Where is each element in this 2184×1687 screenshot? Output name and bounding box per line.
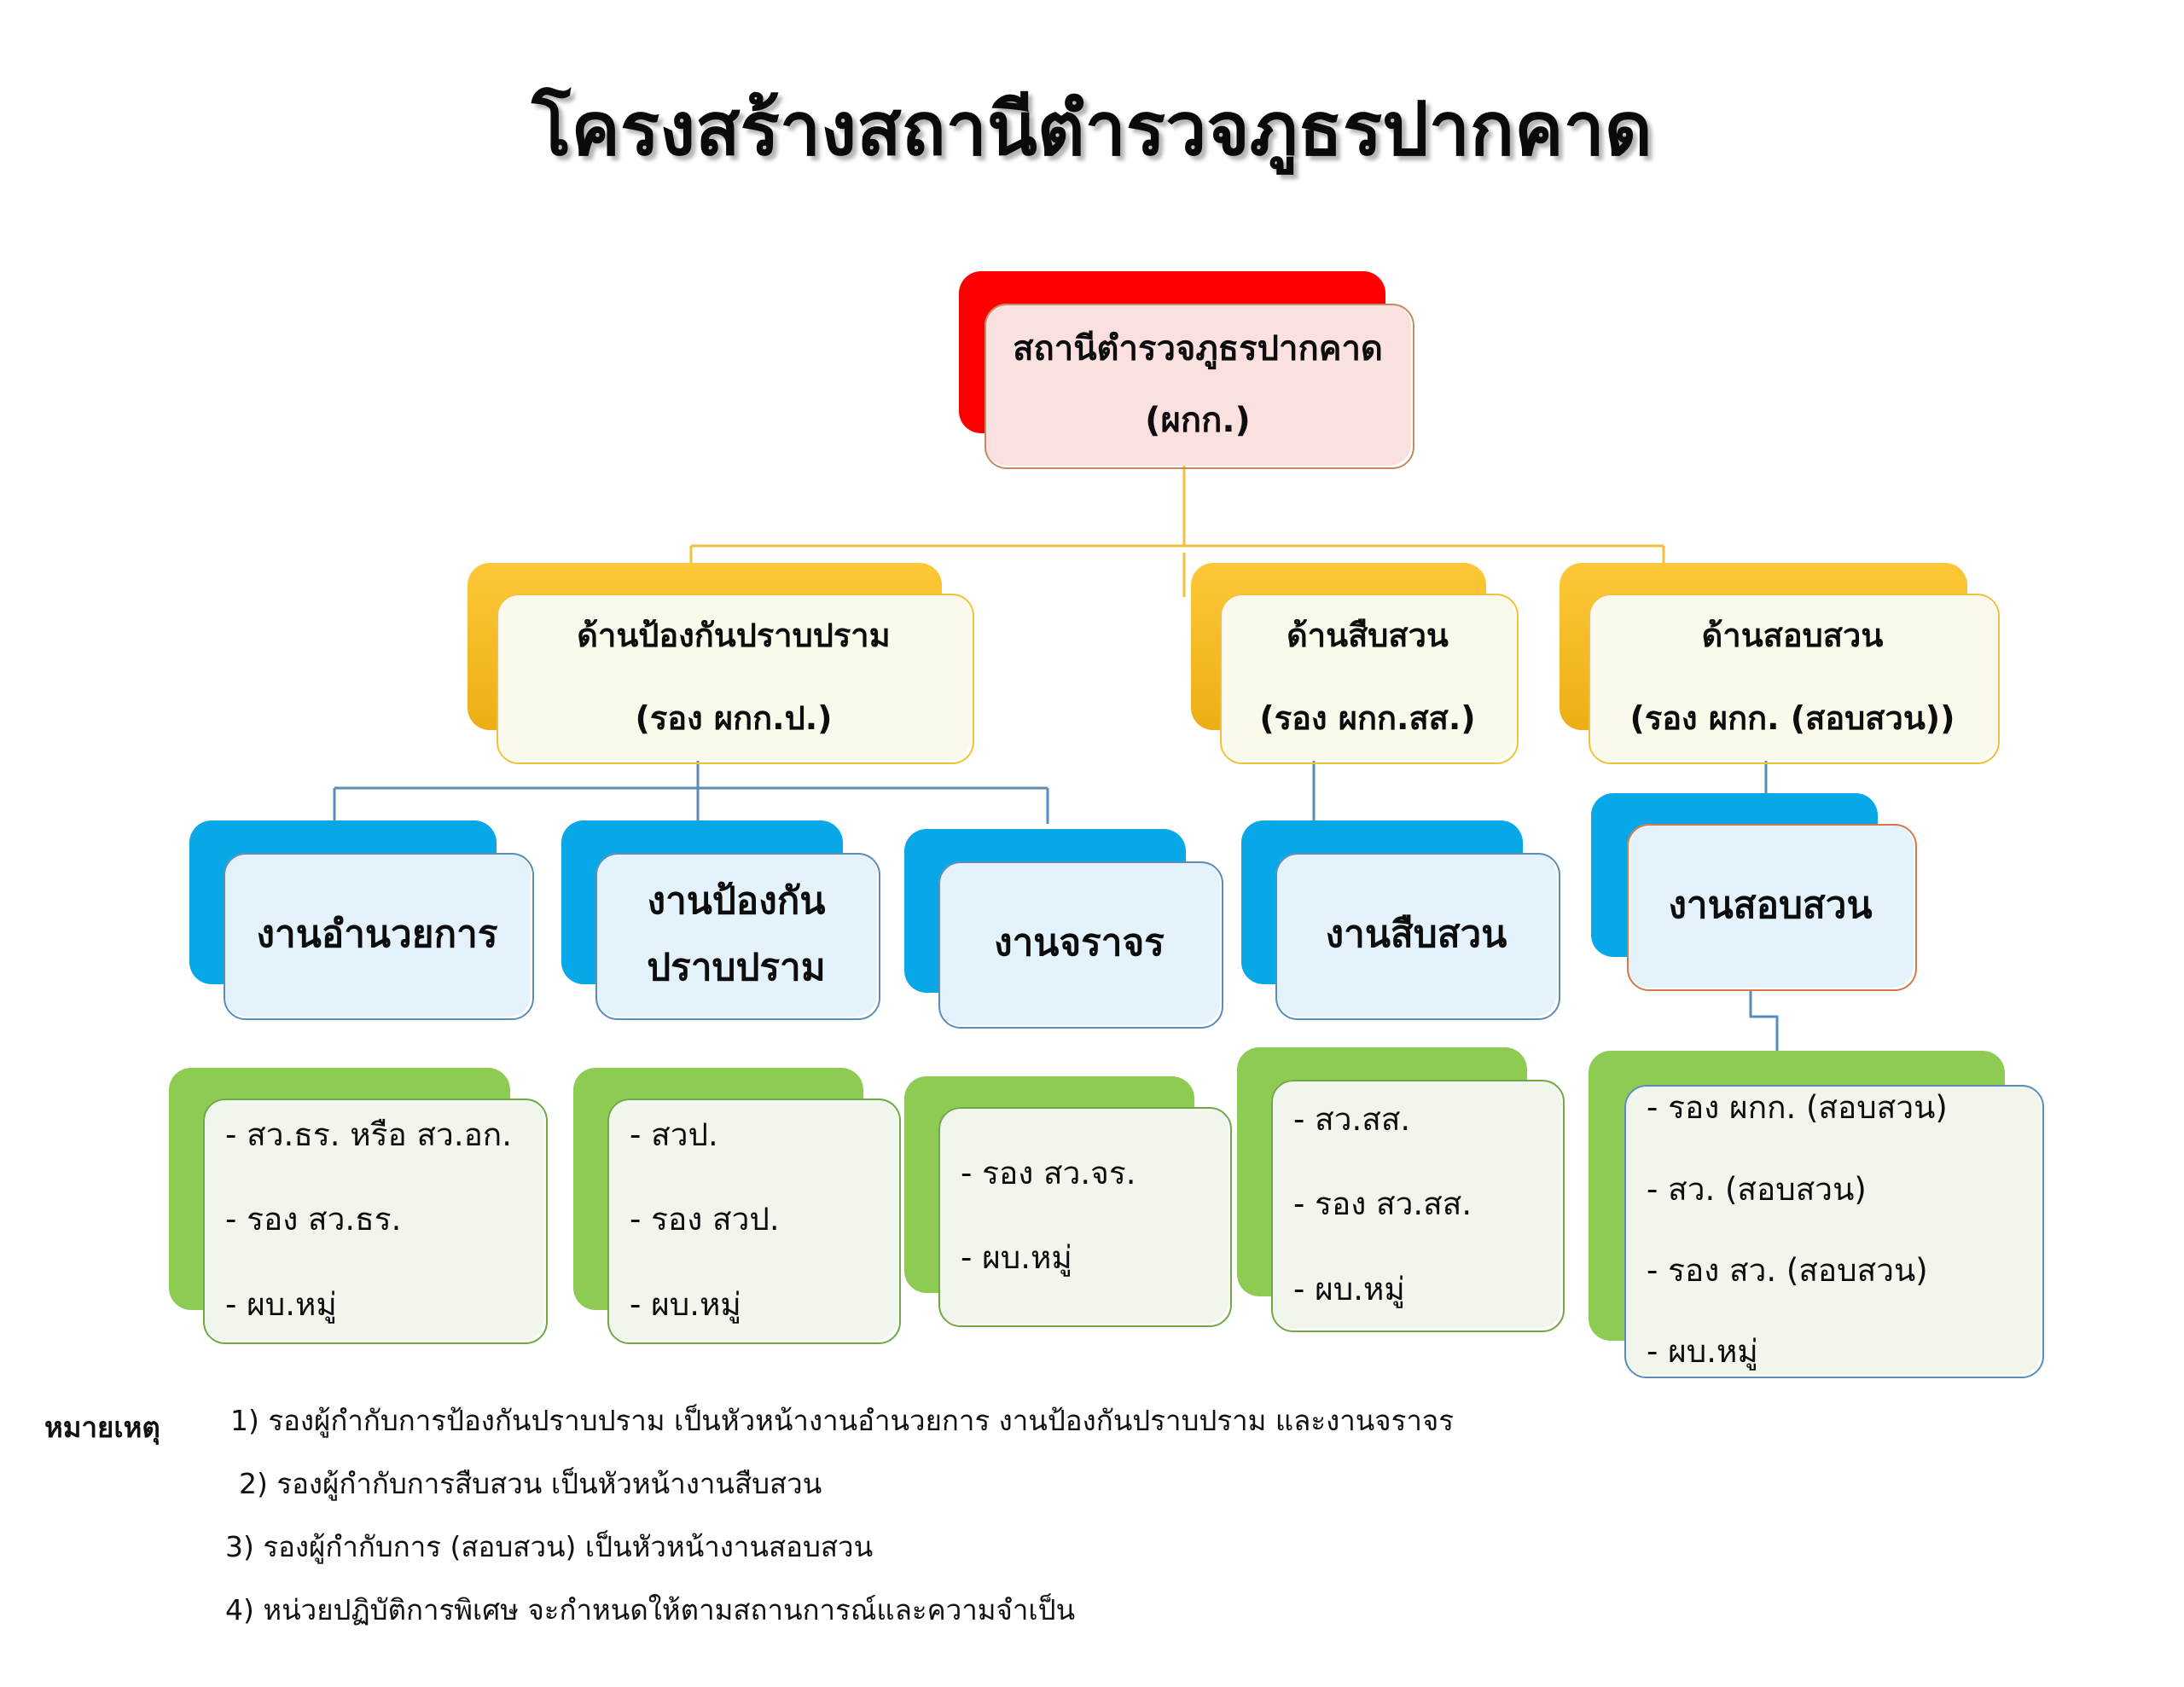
note-item-3: 3) รองผู้กำกับการ (สอบสวน) เป็นหัวหน้างา… [225,1533,873,1561]
staff-inquiry[interactable]: - รอง ผกก. (สอบสวน) - สว. (สอบสวน) - รอง… [1589,1051,2041,1375]
root-node-label: สถานีตำรวจภูธรปากคาด (ผกก.) [985,304,1411,466]
list-item: - สว.สส. [1293,1095,1410,1144]
connector-inquiry-unit-to-staff [1751,989,1777,1058]
list-item: - ผบ.หมู่ [630,1280,741,1329]
unit-prevention-line-2: ปราบปราม [647,939,825,997]
division-inquiry[interactable]: ด้านสอบสวน (รอง ผกก. (สอบสวน)) [1560,563,1996,761]
list-item: - สว. (สอบสวน) [1647,1165,1867,1214]
division-investigation-label: ด้านสืบสวน (รอง ผกก.สส.) [1220,594,1515,761]
division-inquiry-line-2: (รอง ผกก. (สอบสวน)) [1629,693,1955,744]
notes-label: หมายเหตุ [44,1405,160,1450]
unit-inquiry[interactable]: งานสอบสวน [1591,793,1914,989]
unit-traffic-label: งานจราจร [938,861,1220,1025]
unit-prevention-label: งานป้องกัน ปราบปราม [595,853,877,1017]
division-prevention-line-1: ด้านป้องกันปราบปราม [577,611,890,661]
staff-administration-list: - สว.ธร. หรือ สว.อก. - รอง สว.ธร. - ผบ.ห… [225,1099,544,1341]
division-prevention-line-2: (รอง ผกก.ป.) [635,693,832,744]
list-item: - รอง สวป. [630,1195,780,1244]
unit-administration[interactable]: งานอำนวยการ [189,820,531,1017]
staff-investigation-list: - สว.สส. - รอง สว.สส. - ผบ.หมู่ [1293,1080,1561,1329]
staff-inquiry-list: - รอง ผกก. (สอบสวน) - สว. (สอบสวน) - รอง… [1647,1085,2041,1375]
staff-investigation[interactable]: - สว.สส. - รอง สว.สส. - ผบ.หมู่ [1237,1047,1561,1329]
division-prevention-label: ด้านป้องกันปราบปราม (รอง ผกก.ป.) [497,594,971,761]
note-item-2: 2) รองผู้กำกับการสืบสวน เป็นหัวหน้างานสื… [239,1470,822,1498]
division-investigation-line-2: (รอง ผกก.สส.) [1259,693,1475,744]
staff-prevention-list: - สวป. - รอง สวป. - ผบ.หมู่ [630,1099,897,1341]
division-prevention[interactable]: ด้านป้องกันปราบปราม (รอง ผกก.ป.) [468,563,971,761]
list-item: - ผบ.หมู่ [1647,1327,1758,1376]
list-item: - รอง ผกก. (สอบสวน) [1647,1083,1948,1132]
note-item-4: 4) หน่วยปฏิบัติการพิเศษ จะกำหนดให้ตามสถา… [225,1596,1075,1624]
division-inquiry-label: ด้านสอบสวน (รอง ผกก. (สอบสวน)) [1589,594,1996,761]
list-item: - รอง สว.สส. [1293,1180,1472,1228]
staff-prevention[interactable]: - สวป. - รอง สวป. - ผบ.หมู่ [573,1068,897,1341]
division-inquiry-line-1: ด้านสอบสวน [1702,611,1884,661]
note-item-1: 1) รองผู้กำกับการป้องกันปราบปราม เป็นหัว… [230,1406,1454,1435]
unit-prevention-line-1: งานป้องกัน [648,872,826,930]
list-item: - ผบ.หมู่ [225,1280,337,1329]
list-item: - สวป. [630,1110,718,1159]
unit-administration-label: งานอำนวยการ [224,853,531,1017]
unit-inquiry-label: งานสอบสวน [1627,824,1914,988]
unit-investigation[interactable]: งานสืบสวน [1241,820,1557,1017]
list-item: - รอง สว. (สอบสวน) [1647,1246,1928,1295]
org-chart-page: โครงสร้างสถานีตำรวจภูธรปากคาด [0,0,2184,1687]
page-title: โครงสร้างสถานีตำรวจภูธรปากคาด [0,70,2184,187]
list-item: - ผบ.หมู่ [1293,1265,1405,1313]
staff-traffic-list: - รอง สว.จร. - ผบ.หมู่ [961,1107,1228,1324]
unit-investigation-label: งานสืบสวน [1275,853,1557,1017]
unit-investigation-line-1: งานสืบสวน [1326,906,1507,964]
root-node-line-2: (ผกก.) [1145,394,1251,447]
staff-administration[interactable]: - สว.ธร. หรือ สว.อก. - รอง สว.ธร. - ผบ.ห… [169,1068,544,1341]
root-node-line-1: สถานีตำรวจภูธรปากคาด [1013,322,1383,375]
list-item: - ผบ.หมู่ [961,1233,1072,1282]
list-item: - รอง สว.ธร. [225,1195,401,1244]
unit-traffic[interactable]: งานจราจร [904,829,1220,1025]
staff-traffic[interactable]: - รอง สว.จร. - ผบ.หมู่ [904,1076,1228,1324]
connector-prevention-to-units [334,757,1048,824]
unit-traffic-line-1: งานจราจร [994,914,1165,972]
root-node[interactable]: สถานีตำรวจภูธรปากคาด (ผกก.) [959,271,1411,466]
unit-inquiry-line-1: งานสอบสวน [1668,877,1872,935]
unit-prevention[interactable]: งานป้องกัน ปราบปราม [561,820,877,1017]
division-investigation-line-1: ด้านสืบสวน [1287,611,1449,661]
division-investigation[interactable]: ด้านสืบสวน (รอง ผกก.สส.) [1191,563,1515,761]
list-item: - รอง สว.จร. [961,1149,1136,1197]
list-item: - สว.ธร. หรือ สว.อก. [225,1110,512,1159]
unit-administration-line-1: งานอำนวยการ [257,906,498,964]
